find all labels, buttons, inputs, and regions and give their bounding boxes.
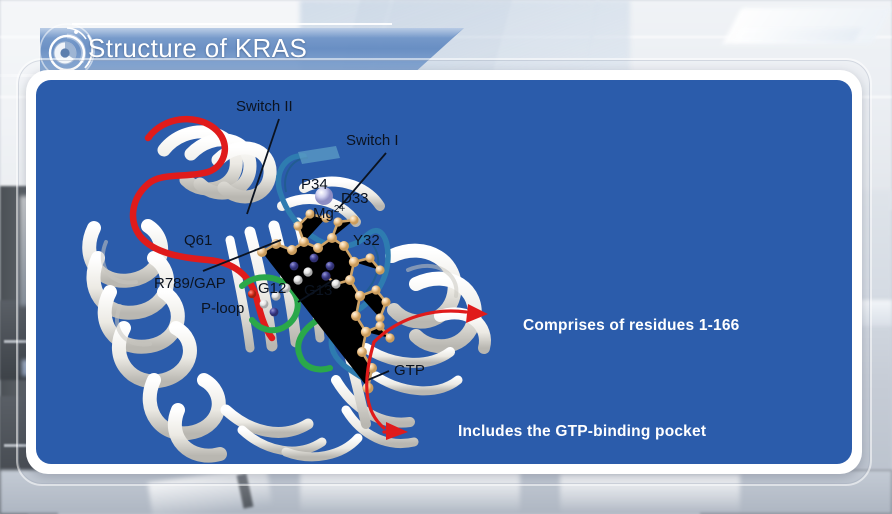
- content-panel: Switch II Switch I P34 D33 Mg2+ Y32 Q61 …: [36, 80, 852, 464]
- label-g12: G12: [258, 280, 286, 297]
- slide-stage: Structure of KRAS: [0, 0, 892, 514]
- ceiling-light: [734, 28, 861, 42]
- label-g13: G13: [304, 282, 332, 299]
- label-r789-gap: R789/GAP: [154, 275, 226, 292]
- label-switch-i: Switch I: [346, 132, 399, 149]
- floor-reflection: [300, 472, 520, 514]
- label-gtp: GTP: [394, 362, 425, 379]
- label-y32: Y32: [353, 232, 380, 249]
- kras-protein-ribbon-diagram: [36, 80, 852, 464]
- callout-gtp-pocket: Includes the GTP-binding pocket: [458, 423, 706, 441]
- page-title: Structure of KRAS: [88, 33, 307, 64]
- floor-reflection: [560, 474, 740, 514]
- label-p-loop: P-loop: [201, 300, 244, 317]
- label-q61: Q61: [184, 232, 212, 249]
- label-mg: Mg2+: [313, 204, 345, 222]
- label-switch-ii: Switch II: [236, 98, 293, 115]
- callout-residues: Comprises of residues 1-166: [523, 317, 739, 335]
- label-p34: P34: [301, 176, 328, 193]
- title-top-rule: [72, 23, 392, 25]
